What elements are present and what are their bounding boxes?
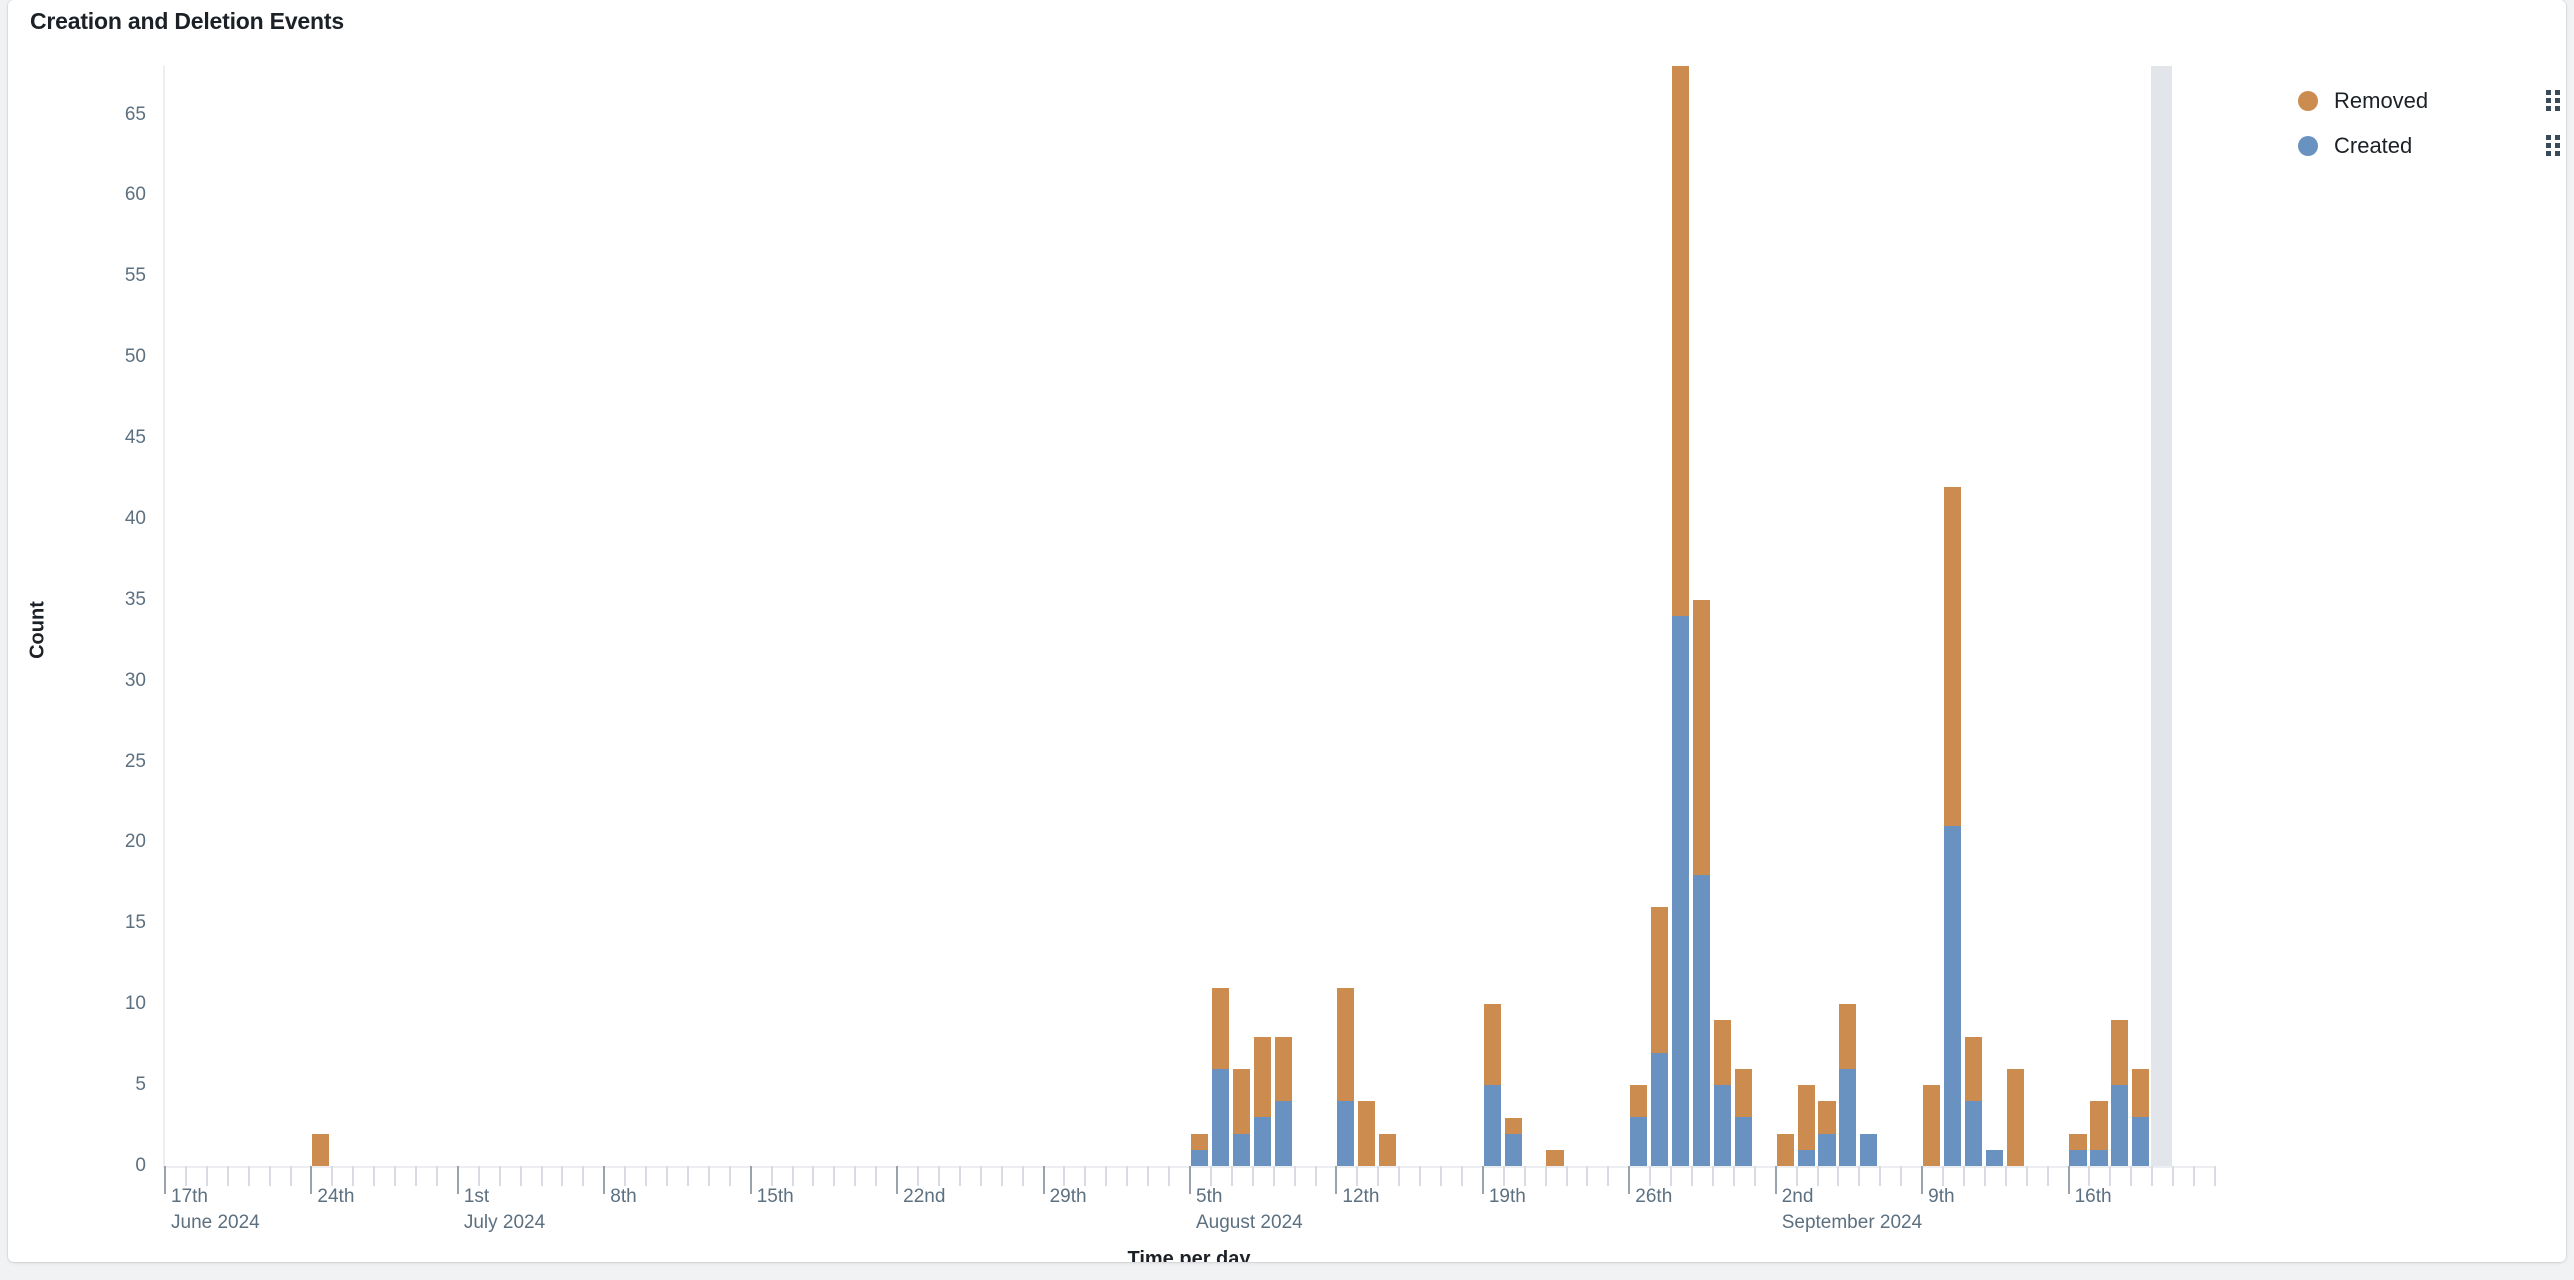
x-tick-minor [980,1166,982,1186]
bar-segment-removed[interactable] [1254,1037,1271,1118]
bar-sep-10[interactable] [1944,487,1961,1166]
x-tick-major [896,1166,898,1194]
x-tick-minor [1168,1166,1170,1186]
bar-aug-05[interactable] [1191,1134,1208,1166]
x-tick-minor [1566,1166,1568,1186]
x-tick-minor [1126,1166,1128,1186]
x-tick-minor [1607,1166,1609,1186]
bar-segment-removed[interactable] [1672,66,1689,616]
x-tick-minor [1231,1166,1233,1186]
x-tick-label-day: 19th [1489,1186,1526,1208]
x-tick-major [310,1166,312,1194]
x-tick-minor [2193,1166,2195,1186]
x-tick-minor [1649,1166,1651,1186]
bar-aug-20[interactable] [1505,1117,1522,1166]
chart-area: Count 05101520253035404550556065 17thJun… [8,38,2566,1262]
x-tick-minor [854,1166,856,1186]
bar-segment-created[interactable] [1693,875,1710,1166]
x-tick-label-day: 16th [2075,1186,2112,1208]
x-tick-label-day: 2nd [1782,1186,1814,1208]
x-tick-minor [541,1166,543,1186]
x-tick-minor [478,1166,480,1186]
x-tick-minor [1942,1166,1944,1186]
bar-segment-created[interactable] [1651,1053,1668,1166]
legend-color-swatch-icon [2298,91,2318,111]
x-tick-minor [1210,1166,1212,1186]
drag-handle-icon[interactable] [2546,135,2560,157]
x-tick-label-day: 1st [464,1186,489,1208]
x-tick-minor [812,1166,814,1186]
bar-aug-13[interactable] [1358,1101,1375,1166]
bar-segment-removed[interactable] [1651,907,1668,1053]
x-tick-major [1921,1166,1923,1194]
bar-segment-removed[interactable] [1379,1134,1396,1166]
x-tick-minor [1440,1166,1442,1186]
x-tick-minor [1356,1166,1358,1186]
x-tick-minor [2026,1166,2028,1186]
bar-aug-07[interactable] [1233,1069,1250,1166]
bar-segment-removed[interactable] [1923,1085,1940,1166]
x-tick-label-day: 22nd [903,1186,945,1208]
x-tick-minor [582,1166,584,1186]
x-tick-label-day: 12th [1342,1186,1379,1208]
x-tick-major [164,1166,166,1194]
x-tick-minor [1252,1166,1254,1186]
bar-segment-removed[interactable] [312,1134,329,1166]
x-tick-label-day: 15th [757,1186,794,1208]
bar-sep-06[interactable] [1860,1134,1877,1166]
bar-segment-created[interactable] [1798,1150,1815,1166]
bar-segment-removed[interactable] [2111,1020,2128,1085]
bar-segment-created[interactable] [2090,1150,2107,1166]
y-tick-40: 40 [125,508,146,530]
bar-segment-created[interactable] [1818,1134,1835,1166]
x-tick-minor [1147,1166,1149,1186]
bar-segment-created[interactable] [1505,1134,1522,1166]
bar-segment-created[interactable] [2111,1085,2128,1166]
bar-segment-removed[interactable] [1714,1020,1731,1085]
drag-handle-icon[interactable] [2546,90,2560,112]
x-tick-label-day: 26th [1635,1186,1672,1208]
bar-segment-created[interactable] [1965,1101,1982,1166]
bar-aug-28[interactable] [1672,66,1689,1166]
bar-segment-created[interactable] [1233,1134,1250,1166]
bar-aug-31[interactable] [1735,1069,1752,1166]
x-tick-minor [394,1166,396,1186]
x-tick-label-day: 17th [171,1186,208,1208]
bar-segment-created[interactable] [1860,1134,1877,1166]
y-axis-tick-labels: 05101520253035404550556065 [8,66,164,1166]
x-tick-label-day: 8th [610,1186,636,1208]
y-tick-65: 65 [125,104,146,126]
plot-region [164,66,2214,1166]
x-tick-minor [645,1166,647,1186]
x-tick-major [1335,1166,1337,1194]
x-tick-minor [2109,1166,2111,1186]
x-tick-label-day: 29th [1050,1186,1087,1208]
x-tick-minor [1063,1166,1065,1186]
x-tick-minor [2214,1166,2216,1186]
x-tick-minor [959,1166,961,1186]
chart-panel: Creation and Deletion Events Count 05101… [8,0,2566,1262]
bars-container [164,66,2214,1166]
x-tick-minor [1503,1166,1505,1186]
x-tick-minor [2151,1166,2153,1186]
bar-segment-created[interactable] [1191,1150,1208,1166]
x-tick-minor [1879,1166,1881,1186]
bar-segment-removed[interactable] [1944,487,1961,827]
bar-segment-removed[interactable] [1191,1134,1208,1150]
x-axis-tick-labels: 17thJune 202424th1stJuly 20248th15th22nd… [164,1166,2214,1256]
x-tick-minor [1524,1166,1526,1186]
bar-segment-created[interactable] [1275,1101,1292,1166]
x-tick-minor [875,1166,877,1186]
bar-segment-created[interactable] [1484,1085,1501,1166]
bar-segment-created[interactable] [1212,1069,1229,1166]
x-tick-minor [520,1166,522,1186]
y-tick-10: 10 [125,993,146,1015]
x-tick-minor [185,1166,187,1186]
x-tick-minor [1001,1166,1003,1186]
x-tick-minor [352,1166,354,1186]
x-tick-minor [2130,1166,2132,1186]
bar-segment-removed[interactable] [1965,1037,1982,1102]
x-tick-major [1775,1166,1777,1194]
x-tick-minor [1022,1166,1024,1186]
bar-segment-created[interactable] [1735,1117,1752,1166]
x-tick-major [750,1166,752,1194]
bar-sep-02[interactable] [1777,1134,1794,1166]
x-tick-minor [1754,1166,1756,1186]
x-tick-minor [1837,1166,1839,1186]
x-tick-minor [687,1166,689,1186]
x-tick-minor [1963,1166,1965,1186]
x-tick-label-month: September 2024 [1782,1212,1923,1234]
bar-sep-18[interactable] [2111,1020,2128,1166]
x-tick-minor [1984,1166,1986,1186]
x-tick-minor [1817,1166,1819,1186]
bar-segment-created[interactable] [1337,1101,1354,1166]
x-tick-minor [708,1166,710,1186]
page-title: Creation and Deletion Events [30,8,344,35]
x-tick-minor [2005,1166,2007,1186]
bar-segment-created[interactable] [1714,1085,1731,1166]
bar-segment-created[interactable] [1839,1069,1856,1166]
x-tick-minor [1273,1166,1275,1186]
x-tick-label-month: June 2024 [171,1212,260,1234]
x-tick-label-month: August 2024 [1196,1212,1303,1234]
x-tick-minor [269,1166,271,1186]
bar-aug-27[interactable] [1651,907,1668,1166]
x-tick-minor [373,1166,375,1186]
y-tick-55: 55 [125,265,146,287]
bar-sep-04[interactable] [1818,1101,1835,1166]
bar-sep-09[interactable] [1923,1085,1940,1166]
x-tick-minor [917,1166,919,1186]
bar-segment-removed[interactable] [1505,1118,1522,1134]
x-tick-label-month: July 2024 [464,1212,545,1234]
x-tick-minor [1084,1166,1086,1186]
y-tick-5: 5 [135,1074,146,1096]
x-tick-minor [1900,1166,1902,1186]
x-tick-minor [1670,1166,1672,1186]
bar-segment-removed[interactable] [1735,1069,1752,1118]
bar-aug-22[interactable] [1546,1150,1563,1166]
y-tick-20: 20 [125,831,146,853]
x-tick-minor [1545,1166,1547,1186]
y-tick-60: 60 [125,184,146,206]
legend-item-label: Created [2334,133,2412,159]
x-tick-minor [1105,1166,1107,1186]
bar-sep-05[interactable] [1839,1004,1856,1166]
bar-aug-08[interactable] [1254,1037,1271,1166]
x-tick-minor [227,1166,229,1186]
y-tick-25: 25 [125,751,146,773]
bar-aug-30[interactable] [1714,1020,1731,1166]
bar-segment-removed[interactable] [1484,1004,1501,1085]
y-tick-15: 15 [125,912,146,934]
chart-legend: RemovedCreated [2298,78,2566,168]
bar-segment-created[interactable] [1672,616,1689,1166]
x-tick-minor [436,1166,438,1186]
bar-sep-16[interactable] [2069,1134,2086,1166]
bar-segment-removed[interactable] [1839,1004,1856,1069]
bar-segment-removed[interactable] [2007,1069,2024,1166]
x-tick-major [1482,1166,1484,1194]
x-tick-minor [624,1166,626,1186]
bar-aug-09[interactable] [1275,1037,1292,1166]
x-tick-minor [771,1166,773,1186]
bar-aug-29[interactable] [1693,600,1710,1166]
x-tick-minor [1858,1166,1860,1186]
bar-segment-removed[interactable] [1777,1134,1794,1166]
y-tick-50: 50 [125,346,146,368]
x-tick-minor [666,1166,668,1186]
bar-segment-removed[interactable] [1212,988,1229,1069]
y-tick-0: 0 [135,1155,146,1177]
x-tick-major [457,1166,459,1194]
bar-segment-created[interactable] [1630,1117,1647,1166]
bar-segment-created[interactable] [1986,1150,2003,1166]
x-tick-major [1043,1166,1045,1194]
x-tick-minor [331,1166,333,1186]
x-tick-minor [1691,1166,1693,1186]
x-tick-minor [833,1166,835,1186]
x-tick-major [2068,1166,2070,1194]
x-tick-minor [729,1166,731,1186]
legend-item-label: Removed [2334,88,2428,114]
bar-sep-03[interactable] [1798,1085,1815,1166]
bar-segment-created[interactable] [1944,826,1961,1166]
bar-aug-12[interactable] [1337,988,1354,1166]
legend-item-removed[interactable]: Removed [2298,78,2566,123]
bar-segment-removed[interactable] [1546,1150,1563,1166]
y-tick-30: 30 [125,670,146,692]
x-tick-minor [1796,1166,1798,1186]
x-tick-minor [1377,1166,1379,1186]
x-tick-minor [415,1166,417,1186]
bar-aug-06[interactable] [1212,988,1229,1166]
bar-segment-removed[interactable] [2132,1069,2149,1118]
bar-segment-removed[interactable] [1798,1085,1815,1150]
bar-segment-created[interactable] [2069,1150,2086,1166]
x-tick-minor [792,1166,794,1186]
y-tick-45: 45 [125,427,146,449]
x-tick-minor [1398,1166,1400,1186]
bar-segment-removed[interactable] [1630,1085,1647,1117]
x-tick-label-day: 5th [1196,1186,1222,1208]
bar-aug-26[interactable] [1630,1085,1647,1166]
x-tick-minor [2088,1166,2090,1186]
bar-aug-14[interactable] [1379,1134,1396,1166]
bar-sep-19[interactable] [2132,1069,2149,1166]
x-tick-minor [561,1166,563,1186]
x-axis-title: Time per day [1127,1248,1250,1262]
bar-segment-removed[interactable] [1358,1101,1375,1166]
x-tick-minor [248,1166,250,1186]
bar-sep-17[interactable] [2090,1101,2107,1166]
bar-segment-created[interactable] [2132,1117,2149,1166]
bar-segment-removed[interactable] [1693,600,1710,875]
x-tick-minor [1733,1166,1735,1186]
bar-segment-created[interactable] [1254,1117,1271,1166]
x-tick-major [1628,1166,1630,1194]
x-tick-minor [290,1166,292,1186]
bar-segment-removed[interactable] [2069,1134,2086,1150]
x-tick-minor [938,1166,940,1186]
bar-segment-removed[interactable] [2090,1101,2107,1150]
bar-aug-19[interactable] [1484,1004,1501,1166]
x-tick-minor [499,1166,501,1186]
bar-segment-removed[interactable] [1818,1101,1835,1133]
bar-segment-removed[interactable] [1233,1069,1250,1134]
x-tick-minor [1461,1166,1463,1186]
x-tick-minor [2172,1166,2174,1186]
x-tick-major [603,1166,605,1194]
bar-jun-24[interactable] [312,1134,329,1166]
x-tick-major [1189,1166,1191,1194]
highlight-band [2151,66,2172,1166]
bar-sep-11[interactable] [1965,1037,1982,1166]
bar-sep-13[interactable] [2007,1069,2024,1166]
legend-color-swatch-icon [2298,136,2318,156]
x-tick-minor [1712,1166,1714,1186]
x-tick-minor [1419,1166,1421,1186]
x-tick-label-day: 9th [1928,1186,1954,1208]
x-tick-minor [1315,1166,1317,1186]
y-tick-35: 35 [125,589,146,611]
x-tick-label-day: 24th [317,1186,354,1208]
legend-item-created[interactable]: Created [2298,123,2566,168]
bar-segment-removed[interactable] [1337,988,1354,1101]
bar-sep-12[interactable] [1986,1150,2003,1166]
x-tick-minor [2047,1166,2049,1186]
x-tick-minor [206,1166,208,1186]
x-tick-minor [1586,1166,1588,1186]
x-tick-minor [1294,1166,1296,1186]
bar-segment-removed[interactable] [1275,1037,1292,1102]
